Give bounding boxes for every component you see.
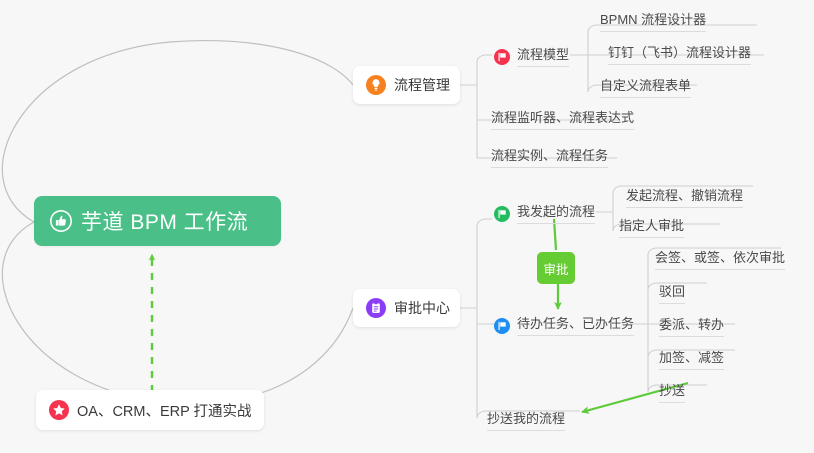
leaf-delegate-transfer[interactable]: 委派、转办 <box>659 317 724 337</box>
mindmap-canvas: 芋道 BPM 工作流 流程管理 流程模型 BPMN 流程设计器 钉钉（飞书）流程… <box>0 0 814 453</box>
leaf-bpmn-designer[interactable]: BPMN 流程设计器 <box>600 12 706 32</box>
root-node-label: 芋道 BPM 工作流 <box>81 206 248 236</box>
flag-icon <box>494 318 510 334</box>
integration-node-label: OA、CRM、ERP 打通实战 <box>77 400 252 421</box>
branch-node-approval-center[interactable]: 审批中心 <box>353 289 460 327</box>
leaf-countersign[interactable]: 会签、或签、依次审批 <box>655 250 785 270</box>
star-icon <box>49 400 69 420</box>
approval-chip[interactable]: 审批 <box>537 252 575 284</box>
clipboard-icon <box>366 298 386 318</box>
leaf-add-remove-sign[interactable]: 加签、减签 <box>659 350 724 370</box>
branch-node-label: 流程管理 <box>394 75 450 95</box>
leaf-process-model[interactable]: 流程模型 <box>494 47 569 67</box>
leaf-label: 我发起的流程 <box>517 204 595 224</box>
leaf-custom-form[interactable]: 自定义流程表单 <box>600 78 691 98</box>
branch-node-process-management[interactable]: 流程管理 <box>353 66 460 104</box>
leaf-process-instance[interactable]: 流程实例、流程任务 <box>491 148 608 168</box>
leaf-label: 流程模型 <box>517 47 569 67</box>
lightbulb-icon <box>366 75 386 95</box>
integration-node[interactable]: OA、CRM、ERP 打通实战 <box>36 390 264 430</box>
leaf-label: 待办任务、已办任务 <box>517 316 634 336</box>
approval-chip-label: 审批 <box>543 259 568 278</box>
leaf-my-started-processes[interactable]: 我发起的流程 <box>494 204 595 224</box>
root-node[interactable]: 芋道 BPM 工作流 <box>34 196 281 246</box>
leaf-assignee-approval[interactable]: 指定人审批 <box>619 218 684 238</box>
thumbs-up-icon <box>50 210 72 232</box>
leaf-process-listener[interactable]: 流程监听器、流程表达式 <box>491 110 634 130</box>
branch-node-label: 审批中心 <box>394 298 450 318</box>
flag-icon <box>494 206 510 222</box>
flag-icon <box>494 49 510 65</box>
leaf-todo-done-tasks[interactable]: 待办任务、已办任务 <box>494 316 634 336</box>
leaf-cc[interactable]: 抄送 <box>659 383 685 403</box>
leaf-cc-to-me[interactable]: 抄送我的流程 <box>487 411 565 431</box>
leaf-start-cancel-process[interactable]: 发起流程、撤销流程 <box>626 188 743 208</box>
leaf-reject[interactable]: 驳回 <box>659 284 685 304</box>
leaf-dingtalk-designer[interactable]: 钉钉（飞书）流程设计器 <box>608 45 751 65</box>
